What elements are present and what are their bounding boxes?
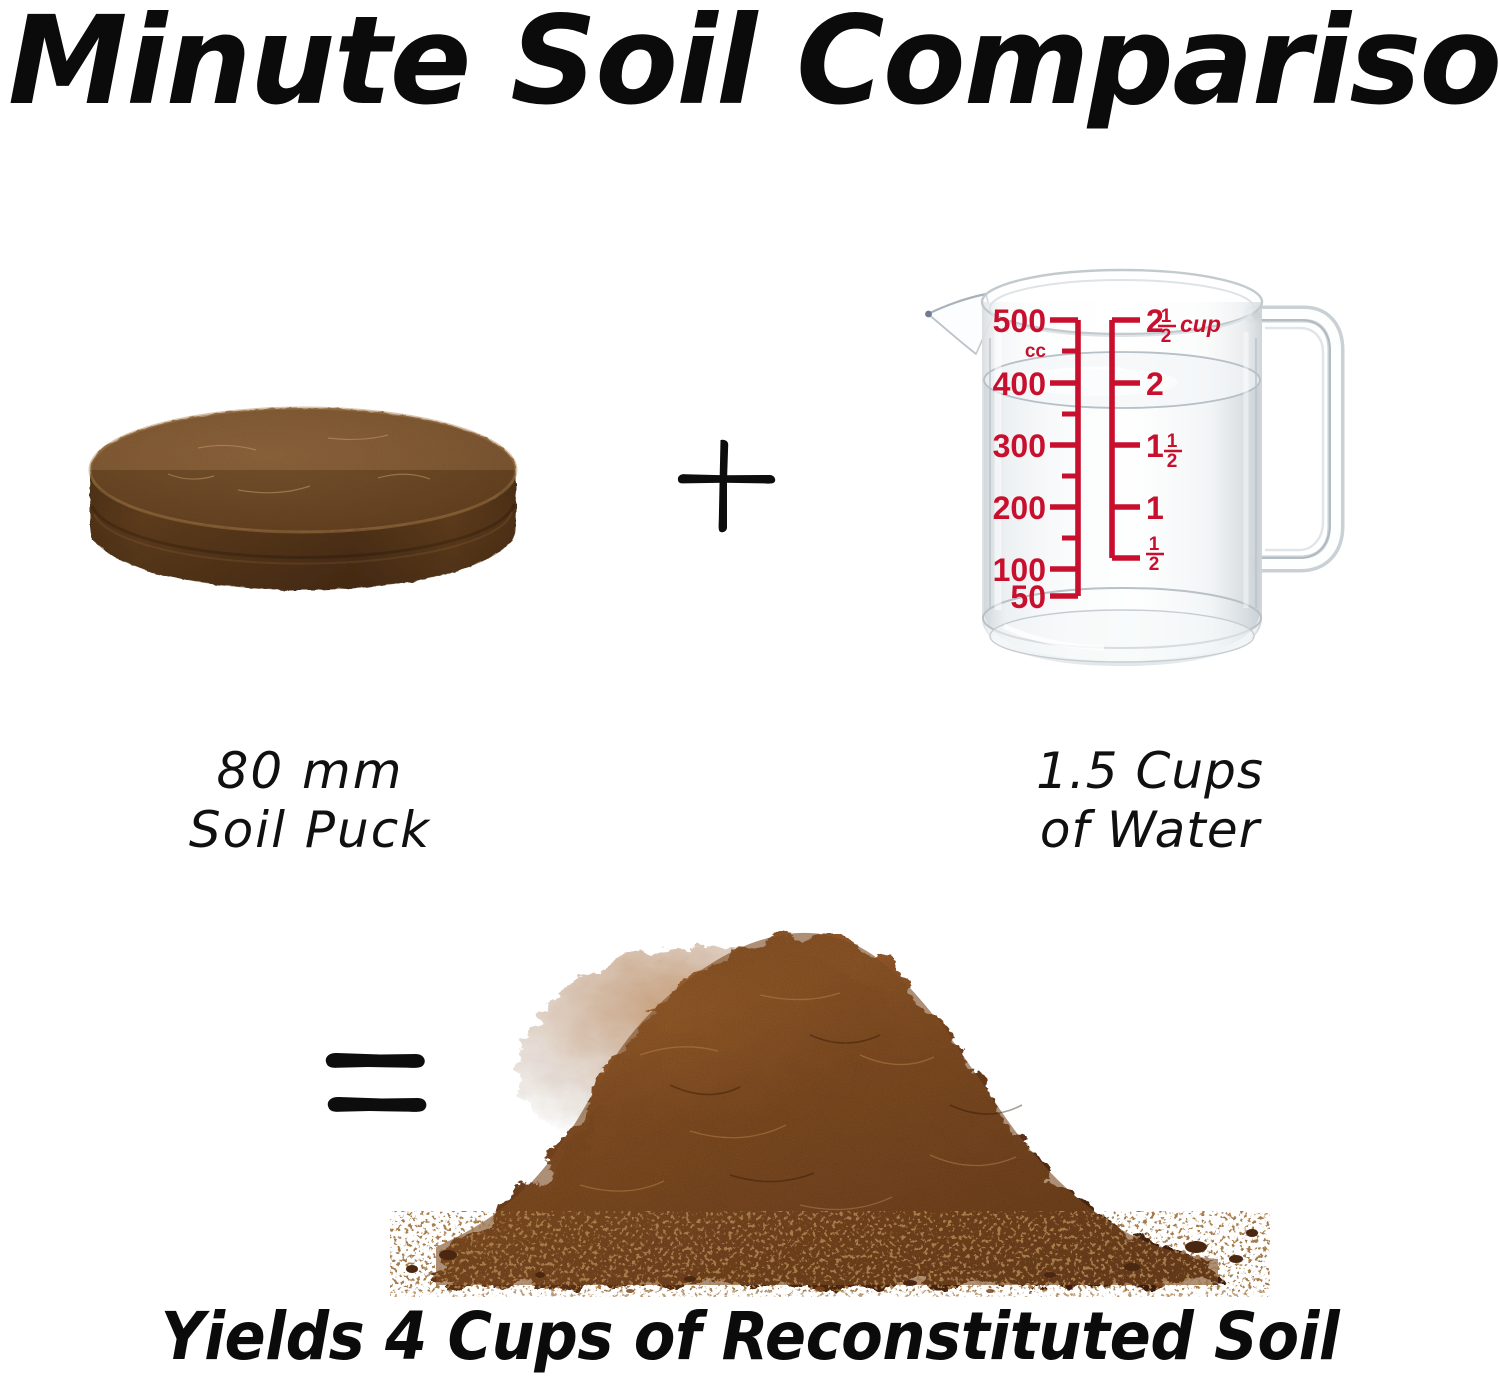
soil-pile-graphic [390, 855, 1270, 1300]
scale-cc-unit: cc [1025, 341, 1047, 362]
scale-cc-500: 500 [993, 303, 1046, 339]
plus-icon [672, 432, 780, 540]
yield-caption: Yields 4 Cups of Reconstituted Soil [60, 1300, 1440, 1374]
scale-cc-400: 400 [993, 366, 1046, 402]
soil-puck-label: 80 mm Soil Puck [100, 742, 520, 860]
page-title: Minute Soil Comparison [8, 2, 1470, 120]
scale-cup-1: 1 [1146, 490, 1164, 526]
scale-cup-2: 2 [1146, 366, 1164, 402]
svg-text:cup: cup [1180, 311, 1221, 337]
svg-text:2: 2 [1149, 554, 1160, 575]
svg-text:1: 1 [1167, 431, 1178, 452]
scale-cc-200: 200 [993, 490, 1046, 526]
scale-cc-300: 300 [993, 428, 1046, 464]
svg-text:2: 2 [1167, 451, 1178, 472]
svg-text:1: 1 [1146, 428, 1164, 464]
soil-comparison-infographic: Minute Soil Comparison [0, 0, 1500, 1392]
measuring-cup-graphic: 500 400 300 200 100 50 cc 2 1 2 [900, 258, 1370, 688]
svg-text:1: 1 [1149, 534, 1160, 555]
scale-cc-50: 50 [1010, 579, 1046, 615]
svg-text:2: 2 [1161, 326, 1172, 347]
water-amount-label: 1.5 Cups of Water [965, 742, 1335, 860]
reconstituted-soil-pile-image [390, 855, 1270, 1300]
measuring-cup-image: 500 400 300 200 100 50 cc 2 1 2 [900, 258, 1370, 688]
plus-operator [672, 432, 780, 540]
soil-puck-image [78, 378, 528, 628]
svg-text:1: 1 [1161, 306, 1172, 327]
soil-puck-graphic [78, 378, 528, 628]
